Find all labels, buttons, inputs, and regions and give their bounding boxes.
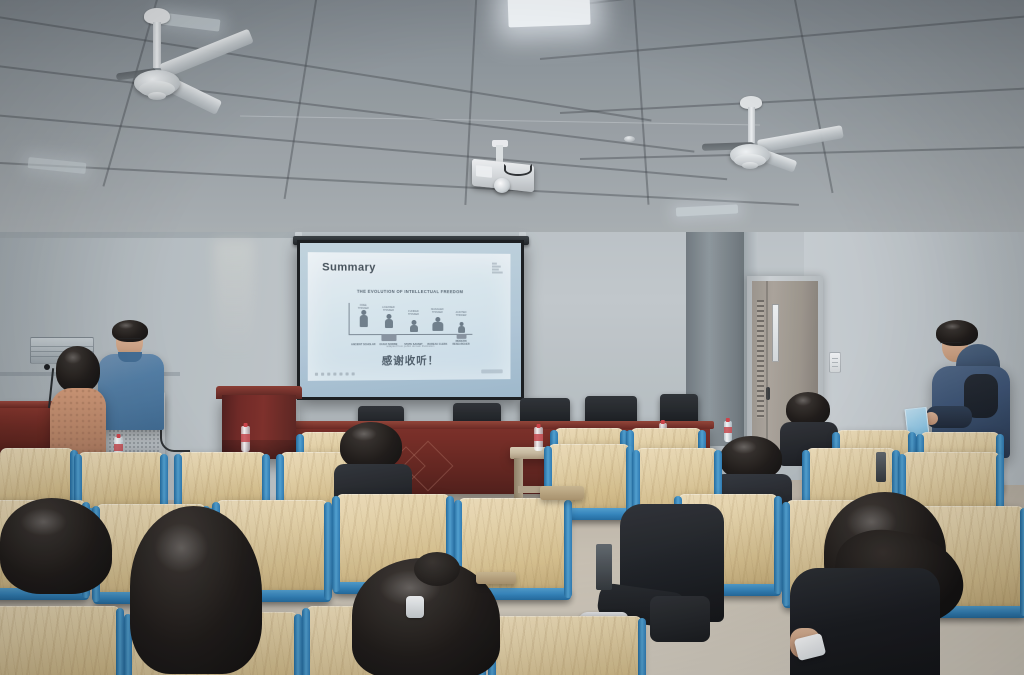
cartoon-figure: AUDITED THINKER MODERN RESEARCHER bbox=[454, 317, 468, 334]
thanks-text: 感谢收听！ bbox=[308, 353, 511, 369]
glasses-icon bbox=[940, 342, 962, 345]
hair-clip bbox=[406, 596, 424, 618]
university-logo bbox=[492, 263, 505, 275]
cartoon-figure-top-label: AUDITED THINKER bbox=[454, 312, 468, 318]
collar bbox=[118, 352, 142, 362]
water-bottle bbox=[534, 424, 543, 451]
hair bbox=[130, 506, 262, 674]
cartoon-figure: MANAGED THINKER BUREAU CLERK bbox=[430, 314, 444, 334]
door-vision-panel bbox=[772, 304, 779, 362]
cartoon-caption: adapted from public domain illustration bbox=[344, 344, 476, 349]
door-hinge bbox=[757, 300, 764, 418]
audience-front-left-b bbox=[130, 506, 270, 675]
more-icon[interactable] bbox=[352, 372, 355, 375]
cartoon-figure-top-label: MANAGED THINKER bbox=[430, 309, 444, 315]
projection-screen: Summary THE EVOLUTION OF INTELLECTUAL FR… bbox=[297, 240, 524, 400]
ceiling-light-panel bbox=[507, 0, 590, 27]
slide-credit-mark bbox=[481, 369, 502, 373]
wall-light-reflection bbox=[214, 240, 254, 360]
smoke-detector-icon bbox=[624, 136, 635, 142]
hair bbox=[340, 422, 402, 470]
slide-toolbar[interactable] bbox=[315, 372, 355, 376]
slide-title: Summary bbox=[322, 261, 376, 273]
ceiling-projector bbox=[470, 140, 560, 200]
screen-frame: Summary THE EVOLUTION OF INTELLECTUAL FR… bbox=[297, 240, 524, 400]
ceiling-light-panel bbox=[28, 157, 87, 174]
seat-armrest bbox=[540, 486, 584, 500]
lecture-seat[interactable] bbox=[492, 616, 642, 675]
cartoon-figure: LICENSED THINKER GUILD SCRIBE bbox=[381, 312, 395, 334]
ceiling-light-panel bbox=[676, 204, 738, 216]
hair bbox=[786, 392, 830, 426]
eraser-icon[interactable] bbox=[333, 372, 336, 375]
cartoon-figure: FREE THINKER ANCIENT SCHOLAR bbox=[356, 310, 370, 334]
audience-front-right-phone bbox=[790, 492, 990, 675]
seat-armrest bbox=[476, 572, 516, 584]
water-bottle bbox=[241, 423, 250, 452]
ceiling-fan-right bbox=[712, 96, 882, 186]
door-mullion bbox=[766, 281, 768, 451]
speaker-cable bbox=[160, 430, 190, 452]
slide-cartoon: THE EVOLUTION OF INTELLECTUAL FREEDOM FR… bbox=[344, 289, 476, 345]
projector-cable bbox=[504, 164, 532, 176]
bag bbox=[650, 596, 710, 642]
slide-content: Summary THE EVOLUTION OF INTELLECTUAL FR… bbox=[308, 252, 511, 381]
seat-hardware bbox=[876, 452, 886, 482]
audience-mid-center bbox=[336, 422, 408, 498]
projector-lens-icon bbox=[494, 178, 510, 193]
wall-switch[interactable] bbox=[829, 352, 841, 373]
pointer-icon[interactable] bbox=[315, 372, 318, 375]
pen-icon[interactable] bbox=[321, 372, 324, 375]
hair bbox=[0, 498, 112, 594]
cartoon-figure-top-label: FUNDED THINKER bbox=[407, 311, 421, 317]
ceiling-fan-left bbox=[122, 8, 302, 118]
torso bbox=[790, 568, 940, 675]
cartoon-figure: FUNDED THINKER STATE SAVANT bbox=[407, 316, 421, 334]
cartoon-title: THE EVOLUTION OF INTELLECTUAL FREEDOM bbox=[344, 289, 476, 294]
lecture-hall-photo: Summary THE EVOLUTION OF INTELLECTUAL FR… bbox=[0, 0, 1024, 675]
seat-hardware bbox=[596, 544, 612, 590]
highlighter-icon[interactable] bbox=[327, 372, 330, 375]
hair bbox=[56, 346, 100, 392]
slide-menu-icon[interactable] bbox=[339, 372, 342, 375]
audience-front-left-a bbox=[0, 498, 120, 618]
zoom-icon[interactable] bbox=[345, 372, 348, 375]
hair-bun bbox=[414, 552, 460, 586]
cartoon-figure-top-label: LICENSED THINKER bbox=[381, 307, 395, 313]
glasses-icon bbox=[118, 338, 141, 341]
